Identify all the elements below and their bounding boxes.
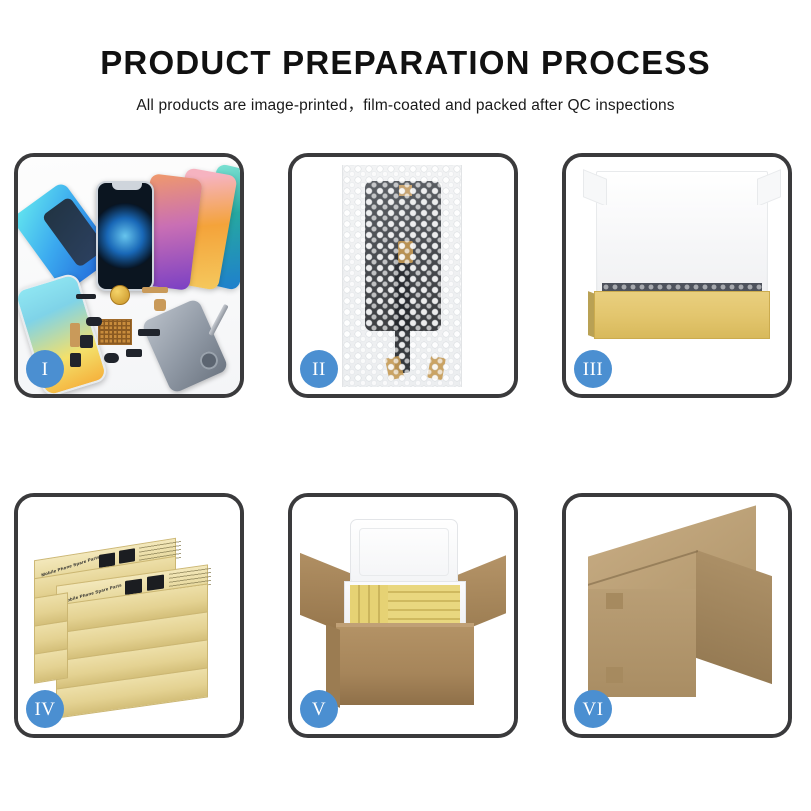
small-part-chip [80,335,93,348]
carton-tape-lower [606,667,623,683]
photo-bubble-wrapped-screen: II [292,157,514,394]
carton-front-face [588,589,696,697]
flex-cable [154,299,166,311]
page-subtitle: All products are image-printed，film-coat… [136,93,674,115]
process-step-5: V [288,493,518,738]
page-title: PRODUCT PREPARATION PROCESS [100,44,711,82]
small-part-chip [126,349,142,357]
step-badge-1: I [26,350,64,388]
speaker-module-icon [110,285,130,305]
photo-foam-carton: V [292,497,514,734]
photo-sealed-carton: VI [566,497,788,734]
small-part-chip [138,329,160,336]
bubble-wrap-bag [342,165,462,387]
step-badge-2: II [300,350,338,388]
small-part-chip [86,317,102,326]
phone-screen-main [96,181,154,291]
process-step-6: VI [562,493,792,738]
process-step-3: III [562,153,792,398]
process-step-2: II [288,153,518,398]
carton-body [336,627,474,705]
carton-side-face [696,550,772,684]
photo-stacked-boxes: Mobile Phone Spare Parts Mobile Phone Sp… [18,497,240,734]
box-thumb [119,548,135,564]
flex-cable [142,287,168,293]
box-thumb [147,575,164,591]
carton-tape-upper [606,593,623,609]
step-badge-4: IV [26,690,64,728]
stacked-box [34,648,68,683]
small-part-chip [70,353,81,367]
header: PRODUCT PREPARATION PROCESS All products… [0,0,811,140]
process-step-1: I [14,153,244,398]
flex-cable [70,323,80,347]
copper-mesh-grid [98,319,132,345]
process-step-4: Mobile Phone Spare Parts Mobile Phone Sp… [14,493,244,738]
small-part-chip [104,353,119,363]
foam-liner [598,205,766,291]
phone-back-housing [141,298,229,394]
small-part-chip [76,294,96,299]
yellow-packed-boxes [388,585,460,627]
step-badge-5: V [300,690,338,728]
kraft-box-tray [594,291,770,339]
step-badge-3: III [574,350,612,388]
process-step-grid: I II [14,153,798,741]
photo-open-inner-box: III [566,157,788,394]
foam-cooler-lid [350,519,458,585]
step-badge-6: VI [574,690,612,728]
bubble-texture [343,165,461,387]
product-preparation-infographic: PRODUCT PREPARATION PROCESS All products… [0,0,811,811]
tweezers-icon [208,304,228,336]
photo-phone-parts: I [18,157,240,394]
